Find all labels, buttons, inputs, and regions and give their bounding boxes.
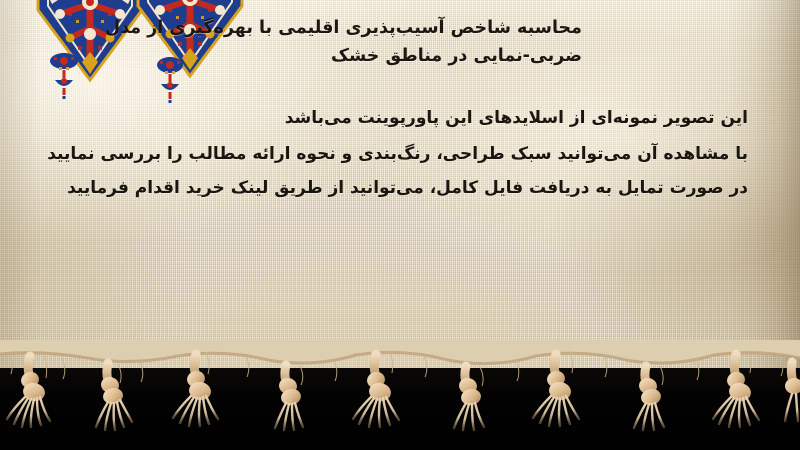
slide-canvas: محاسبه شاخص آسیب‌پذیری اقلیمی با بهره‌گی… — [0, 0, 800, 450]
body-line-2: با مشاهده آن می‌توانید سبک طراحی، رنگ‌بن… — [48, 144, 748, 164]
body-line-1: این تصویر نمونه‌ای از اسلایدهای این پاور… — [48, 108, 748, 128]
knotted-tassel-fringe-icon — [0, 340, 800, 450]
slide-body-text: این تصویر نمونه‌ای از اسلایدهای این پاور… — [48, 108, 748, 212]
slide-title: محاسبه شاخص آسیب‌پذیری اقلیمی با بهره‌گی… — [0, 14, 582, 70]
slide-title-line-2: ضربی-نمایی در مناطق خشک — [0, 42, 582, 70]
body-line-3: در صورت تمایل به دریافت فایل کامل، می‌تو… — [48, 178, 748, 198]
slide-title-line-1: محاسبه شاخص آسیب‌پذیری اقلیمی با بهره‌گی… — [0, 14, 582, 42]
